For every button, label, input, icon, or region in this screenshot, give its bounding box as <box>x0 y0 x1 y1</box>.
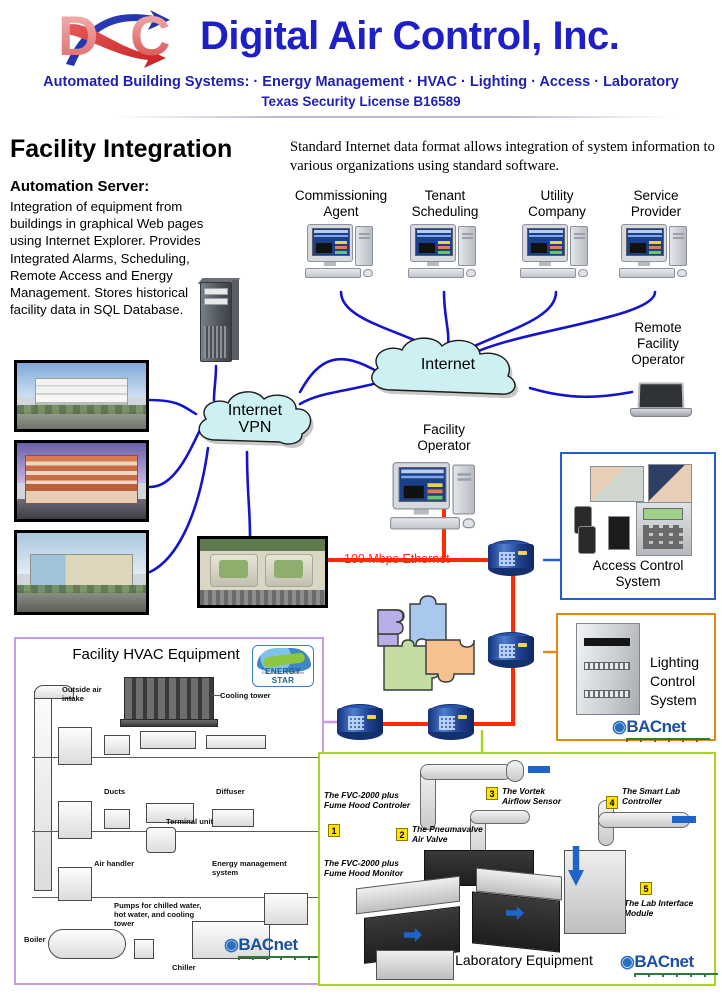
page-header: D C Digital Air Control, Inc. Automated … <box>0 0 722 120</box>
outside-air-shaft <box>34 691 52 891</box>
title-line1: Access Control <box>562 558 714 574</box>
title-line1: Lighting <box>650 653 712 672</box>
company-name: Digital Air Control, Inc. <box>200 14 700 59</box>
photo-office-building-brick <box>14 440 149 522</box>
screen <box>312 228 350 256</box>
label-line1: Utility <box>507 188 607 204</box>
dac-logo: D C <box>58 8 198 70</box>
automation-server-heading: Automation Server: <box>10 178 149 195</box>
keyboard <box>305 268 361 278</box>
laptop-icon[interactable] <box>630 382 692 424</box>
pc-service-provider[interactable] <box>619 224 693 282</box>
callout-line2: Air Valve <box>412 834 502 844</box>
card-reader-photo <box>648 464 692 504</box>
laptop-keyboard <box>630 408 692 417</box>
title-line2: System <box>562 574 714 590</box>
callout-5-label: The Lab Interface Module <box>624 898 712 918</box>
hvac-label-boiler: Boiler <box>24 935 46 944</box>
pc-tenant-scheduling[interactable] <box>408 224 482 282</box>
cloud-vpn-label-line1: Internet <box>190 402 320 420</box>
pumps-art <box>134 939 154 959</box>
logo-letter-c: C <box>130 8 170 64</box>
hvac-title: Facility HVAC Equipment <box>46 647 266 663</box>
label-line2: Agent <box>291 204 391 220</box>
label-remote-facility-operator: Remote Facility Operator <box>610 320 706 368</box>
cloud-internet-label: Internet <box>358 356 538 374</box>
callout-line1: The Pneumavalve <box>412 824 502 834</box>
callout-4-label: The Smart Lab Controller <box>622 786 708 806</box>
title-line2: Control <box>650 672 712 691</box>
label-line2: Provider <box>606 204 706 220</box>
hvac-label-air-handler: Air handler <box>94 859 134 868</box>
duct-horizontal-1 <box>420 764 512 780</box>
bacnet-logo-hvac: ◉BACnet <box>224 935 298 955</box>
network-hub-access[interactable] <box>488 540 534 574</box>
callout-4-marker: 4 <box>606 796 618 809</box>
ahu-1 <box>58 727 92 765</box>
label-line1: Facility <box>392 422 496 438</box>
callout-line1: The FVC-2000 plus <box>324 858 434 868</box>
ethernet-label: 100 Mbps Ethernet <box>344 552 450 566</box>
proximity-reader <box>608 516 630 550</box>
laptop-screen <box>637 382 684 409</box>
callout-line1: The Vortek <box>502 786 582 796</box>
network-hub-hvac[interactable] <box>337 704 383 738</box>
callout-line2: Fume Hood Monitor <box>324 868 434 878</box>
page-title: Facility Integration <box>10 135 232 164</box>
keypad-reader-photo <box>590 466 644 502</box>
pc-tower <box>355 226 373 266</box>
cloud-vpn-label-line2: VPN <box>190 419 320 437</box>
bacnet-logo-lab: ◉BACnet <box>620 952 694 972</box>
automation-server-icon <box>200 282 240 366</box>
pc-utility-company[interactable] <box>520 224 594 282</box>
airflow-arrow-1 <box>528 766 550 773</box>
label-line1: Remote <box>610 320 706 336</box>
callout-5-marker: 5 <box>640 882 652 895</box>
callout-3-marker: 3 <box>486 787 498 800</box>
bacnet-icon: ◉ <box>612 717 626 736</box>
callout-line2: Controller <box>622 796 708 806</box>
laboratory-equipment-panel[interactable]: 1 The FVC-2000 plus Fume Hood Controler … <box>318 752 716 986</box>
energy-star-brand: ENERGY STAR <box>253 667 313 685</box>
photo-facility-aerial-view <box>197 536 328 608</box>
header-divider <box>115 116 675 118</box>
ems-art <box>264 893 308 925</box>
label-tenant-scheduling: Tenant Scheduling <box>395 188 495 220</box>
logo-letter-d: D <box>58 8 98 64</box>
hvac-label-outside-air-intake: Outside air intake <box>62 685 116 703</box>
bacnet-text: BACnet <box>238 935 297 954</box>
label-commissioning-agent: Commissioning Agent <box>291 188 391 220</box>
laboratory-title: Laboratory Equipment <box>424 952 624 968</box>
access-control-system-panel[interactable]: Access Control System <box>560 452 716 600</box>
monitor-stand <box>324 262 336 266</box>
access-control-title: Access Control System <box>562 558 714 590</box>
callout-1-marker: 1 <box>328 824 340 837</box>
title-line3: System <box>650 691 712 710</box>
duct-horizontal-2 <box>470 810 530 824</box>
label-line2: Company <box>507 204 607 220</box>
hvac-label-diffuser: Diffuser <box>216 787 245 796</box>
bacnet-icon: ◉ <box>620 952 634 971</box>
key-fob-2 <box>578 526 596 554</box>
photo-office-building-glass <box>14 530 149 615</box>
lighting-control-system-panel[interactable]: Lighting Control System ◉BACnet <box>556 613 716 741</box>
pc-commissioning-agent[interactable] <box>305 224 379 282</box>
callout-line1: The Lab Interface <box>624 898 712 908</box>
fume-hood-monitor-label: The FVC-2000 plus Fume Hood Monitor <box>324 858 434 878</box>
hvac-label-terminal-unit: Terminal unit <box>166 817 213 826</box>
label-line1: Commissioning <box>291 188 391 204</box>
lighting-control-title: Lighting Control System <box>650 653 712 710</box>
cloud-internet: Internet <box>358 334 538 406</box>
boiler-art <box>48 929 126 959</box>
callout-line2: Module <box>624 908 712 918</box>
label-line3: Operator <box>610 352 706 368</box>
label-line2: Facility <box>610 336 706 352</box>
callout-line2: Fume Hood Controler <box>324 800 434 810</box>
network-hub-lab[interactable] <box>428 704 474 738</box>
terminal-unit-art <box>146 827 176 853</box>
automation-server-description: Integration of equipment from buildings … <box>10 198 220 318</box>
label-line1: Tenant <box>395 188 495 204</box>
access-keypad-terminal <box>636 502 692 556</box>
ahu-2 <box>58 801 92 839</box>
hvac-label-chiller: Chiller <box>172 963 196 972</box>
company-tagline: Automated Building Systems: · Energy Man… <box>0 74 722 90</box>
intro-paragraph: Standard Internet data format allows int… <box>290 138 715 176</box>
callout-3-label: The Vortek Airflow Sensor <box>502 786 582 806</box>
bacnet-text: BACnet <box>634 952 693 971</box>
mouse <box>363 269 373 277</box>
license-line: Texas Security License B16589 <box>0 94 722 109</box>
monitor <box>307 224 353 262</box>
callout-line1: The Smart Lab <box>622 786 708 796</box>
callout-line2: Airflow Sensor <box>502 796 582 806</box>
cloud-internet-vpn: Internet VPN <box>190 386 320 454</box>
energy-star-logo: EPA Pollution Preventer ENERGY STAR <box>252 645 314 687</box>
duct-exhaust-1 <box>506 760 524 782</box>
hvac-label-ducts: Ducts <box>104 787 125 796</box>
bacnet-logo-lighting: ◉BACnet <box>612 717 686 737</box>
hvac-label-cooling-tower: Cooling tower <box>220 691 271 700</box>
label-utility-company: Utility Company <box>507 188 607 220</box>
facility-hvac-panel[interactable]: Facility HVAC Equipment EPA Pollution Pr… <box>14 637 324 985</box>
diffuser-art <box>212 809 254 827</box>
ahu-3 <box>58 867 92 901</box>
label-facility-operator: Facility Operator <box>392 422 496 454</box>
lighting-panel-photo <box>576 623 640 715</box>
callout-1-label: The FVC-2000 plus Fume Hood Controler <box>324 790 434 810</box>
bacnet-text: BACnet <box>626 717 685 736</box>
label-line2: Operator <box>392 438 496 454</box>
label-line2: Scheduling <box>395 204 495 220</box>
cabinet-2 <box>472 891 560 952</box>
hvac-label-ems: Energy management system <box>212 859 308 877</box>
bacnet-icon: ◉ <box>224 935 238 954</box>
airflow-arrow-2 <box>672 816 696 823</box>
network-hub-lighting[interactable] <box>488 632 534 666</box>
callout-line1: The FVC-2000 plus <box>324 790 434 800</box>
label-line1: Service <box>606 188 706 204</box>
cooling-tower-art <box>124 677 214 721</box>
label-service-provider: Service Provider <box>606 188 706 220</box>
callout-2-label: The Pneumavalve Air Valve <box>412 824 502 844</box>
photo-office-building-white <box>14 360 149 432</box>
callout-2-marker: 2 <box>396 828 408 841</box>
puzzle-graphic <box>370 588 482 696</box>
